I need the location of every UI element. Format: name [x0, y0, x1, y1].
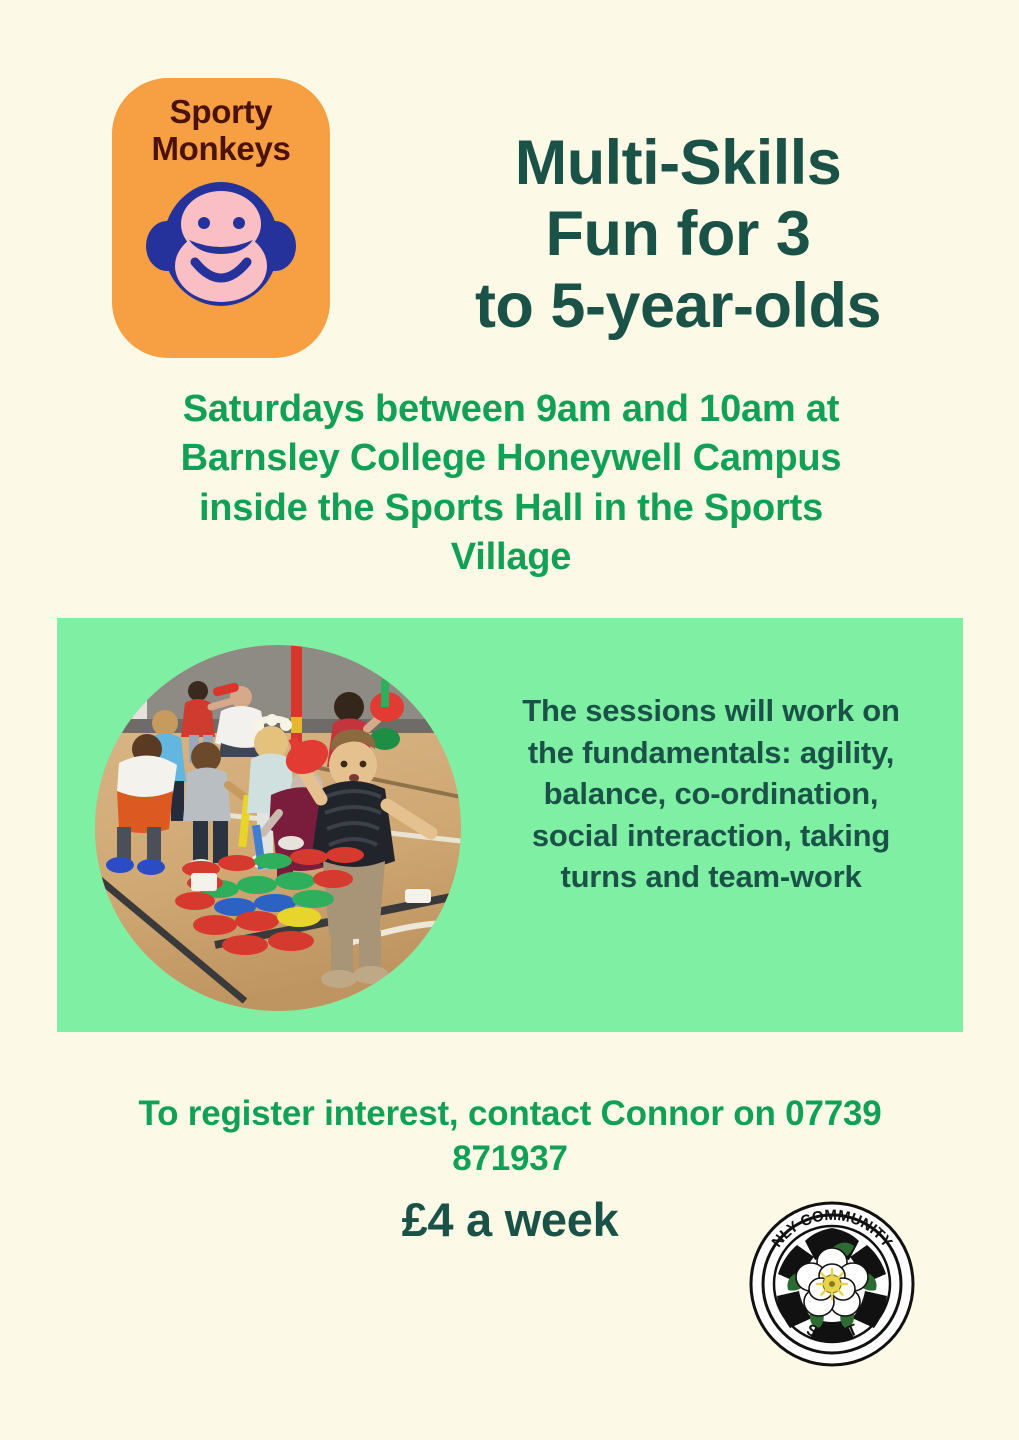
- feature-line-3: balance, co-ordination,: [469, 773, 953, 815]
- feature-panel: The sessions will work on the fundamenta…: [57, 618, 963, 1032]
- details-line-2: Barnsley College Honeywell Campus: [92, 434, 930, 483]
- contact-info: To register interest, contact Connor on …: [70, 1092, 950, 1182]
- session-photo: [95, 645, 461, 1011]
- page-title: Multi-Skills Fun for 3 to 5-year-olds: [360, 128, 996, 342]
- headline-line-3: to 5-year-olds: [360, 271, 996, 342]
- brand-name-line-1: Sporty: [151, 94, 290, 131]
- brand-badge: Sporty Monkeys: [112, 78, 330, 358]
- details-line-1: Saturdays between 9am and 10am at: [92, 385, 930, 434]
- brand-name-line-2: Monkeys: [151, 131, 290, 168]
- details-line-3: inside the Sports Hall in the Sports: [92, 484, 930, 533]
- feature-line-2: the fundamentals: agility,: [469, 732, 953, 774]
- brand-name: Sporty Monkeys: [151, 94, 290, 168]
- headline-line-2: Fun for 3: [360, 199, 996, 270]
- feature-description: The sessions will work on the fundamenta…: [469, 690, 953, 898]
- session-details: Saturdays between 9am and 10am at Barnsl…: [92, 385, 930, 583]
- feature-line-1: The sessions will work on: [469, 690, 953, 732]
- details-line-4: Village: [92, 533, 930, 582]
- headline-line-1: Multi-Skills: [360, 128, 996, 199]
- monkey-face-icon: [145, 174, 297, 314]
- contact-line-2: 871937: [70, 1137, 950, 1182]
- nly-community-sport-badge-icon: NLY COMMUNITY SPORT: [748, 1200, 916, 1368]
- poster-canvas: Sporty Monkeys: [0, 0, 1019, 1440]
- feature-line-5: turns and team-work: [469, 856, 953, 898]
- feature-line-4: social interaction, taking: [469, 815, 953, 857]
- contact-line-1: To register interest, contact Connor on …: [70, 1092, 950, 1137]
